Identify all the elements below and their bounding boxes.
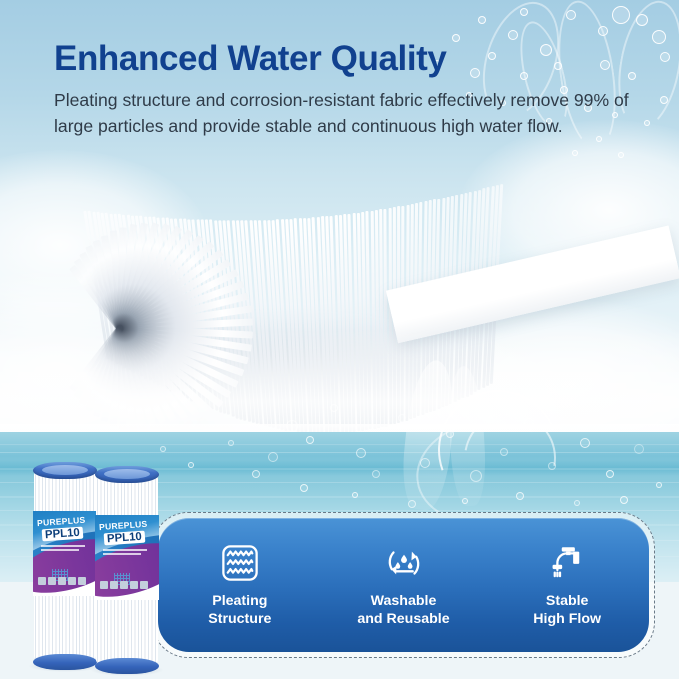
feature-bar: Pleating Structure Washable and Reusable xyxy=(158,518,649,652)
ocean-ripple xyxy=(0,444,679,445)
water-bubble xyxy=(228,440,234,446)
water-bubble xyxy=(330,404,338,412)
product-feature-banner: Enhanced Water Quality Pleating structur… xyxy=(0,0,679,679)
water-bubble xyxy=(356,448,366,458)
brand-name: PUREPLUS xyxy=(99,518,159,532)
water-bubble xyxy=(398,414,406,422)
faucet-high-flow-icon xyxy=(546,542,588,584)
water-bubble xyxy=(188,462,194,468)
pleating-structure-icon xyxy=(219,542,261,584)
water-droplet xyxy=(572,150,578,156)
water-bubble xyxy=(252,470,260,478)
page-title: Enhanced Water Quality xyxy=(54,38,654,79)
water-bubble xyxy=(300,484,308,492)
water-droplet xyxy=(478,16,486,24)
cartridge-label: PUREPLUS PPL10 xyxy=(95,515,159,600)
water-bubble xyxy=(634,444,644,454)
cartridge-label: PUREPLUS PPL10 xyxy=(33,511,97,596)
water-bubble xyxy=(656,482,662,488)
water-bubble xyxy=(516,492,524,500)
water-bubble xyxy=(160,446,166,452)
water-bubble xyxy=(548,462,556,470)
feature-label: Stable High Flow xyxy=(533,593,601,628)
water-bubble xyxy=(580,438,590,448)
feature-stable-high-flow[interactable]: Stable High Flow xyxy=(485,542,649,628)
washable-reusable-icon xyxy=(383,542,425,584)
filter-cartridge[interactable]: PUREPLUS PPL10 xyxy=(33,462,97,668)
water-bubble xyxy=(470,470,482,482)
water-bubble xyxy=(620,496,628,504)
water-bubble xyxy=(408,500,416,508)
filter-cartridge[interactable]: PUREPLUS PPL10 xyxy=(95,466,159,672)
water-bubble xyxy=(420,458,430,468)
feature-washable-reusable[interactable]: Washable and Reusable xyxy=(322,542,486,628)
water-droplet xyxy=(618,152,624,158)
water-bubble xyxy=(372,470,380,478)
cartridge-top-cap xyxy=(33,462,97,479)
feature-label: Washable and Reusable xyxy=(357,593,449,628)
water-bubble xyxy=(306,436,314,444)
cartridge-bottom-cap xyxy=(33,654,97,670)
water-bubble xyxy=(286,420,298,432)
water-bubble xyxy=(352,492,358,498)
water-droplet xyxy=(612,6,630,24)
brand-name: PUREPLUS xyxy=(37,514,97,528)
water-bubble xyxy=(656,420,664,428)
water-bubble xyxy=(462,498,468,504)
description-text: Pleating structure and corrosion-resista… xyxy=(54,88,634,139)
water-bubble xyxy=(574,500,580,506)
cartridge-bottom-cap xyxy=(95,658,159,674)
copy-block: Enhanced Water Quality Pleating structur… xyxy=(54,38,654,139)
feature-pleating-structure[interactable]: Pleating Structure xyxy=(158,542,322,628)
label-cert-icons xyxy=(100,575,154,595)
cartridge-top-cap xyxy=(95,466,159,483)
water-bubble xyxy=(500,448,508,456)
water-bubble xyxy=(446,430,454,438)
ocean-ripple xyxy=(0,452,679,453)
feature-label: Pleating Structure xyxy=(208,593,271,628)
water-bubble xyxy=(606,470,614,478)
water-bubble xyxy=(524,418,534,428)
water-bubble xyxy=(268,452,278,462)
label-cert-icons xyxy=(38,571,92,591)
